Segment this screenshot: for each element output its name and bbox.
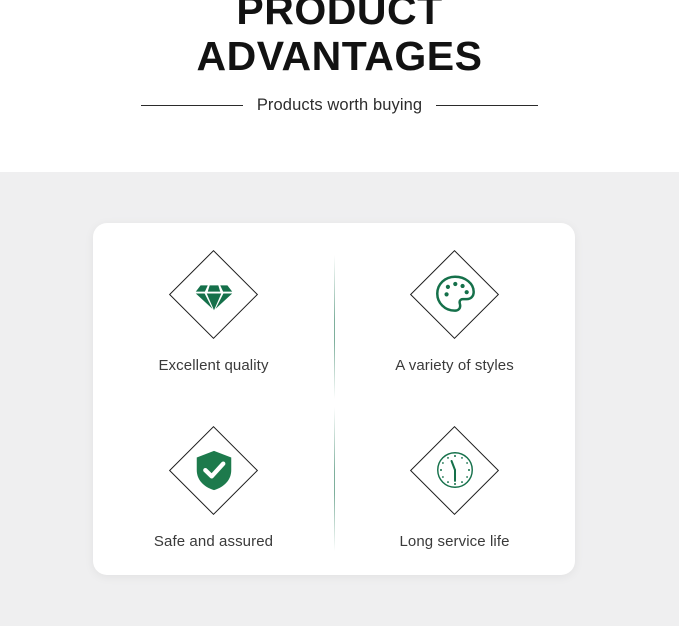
page-title: PRODUCT ADVANTAGES — [0, 0, 679, 79]
feature-label: Excellent quality — [158, 357, 268, 374]
page-header: PRODUCT ADVANTAGES Products worth buying — [0, 0, 679, 172]
feature-item-safe-and-assured[interactable]: Safe and assured — [93, 399, 334, 575]
paint-palette-icon — [432, 271, 478, 317]
diamond-gem-icon — [191, 271, 237, 317]
features-card: Excellent quality A variety of styles — [93, 223, 575, 575]
feature-label: Safe and assured — [154, 533, 273, 550]
subtitle-row: Products worth buying — [0, 96, 679, 115]
icon-frame — [409, 248, 501, 340]
clock-icon — [432, 447, 478, 493]
page-subtitle: Products worth buying — [257, 96, 422, 115]
shield-check-icon — [191, 447, 237, 493]
icon-frame — [168, 424, 260, 516]
icon-frame — [168, 248, 260, 340]
feature-label: Long service life — [399, 533, 509, 550]
page-title-line-2: ADVANTAGES — [0, 33, 679, 79]
feature-item-excellent-quality[interactable]: Excellent quality — [93, 223, 334, 399]
feature-item-variety-of-styles[interactable]: A variety of styles — [334, 223, 575, 399]
icon-frame — [409, 424, 501, 516]
subtitle-rule-right — [436, 105, 538, 106]
page-title-line-1: PRODUCT — [0, 0, 679, 33]
feature-item-long-service-life[interactable]: Long service life — [334, 399, 575, 575]
feature-label: A variety of styles — [395, 357, 514, 374]
features-grid: Excellent quality A variety of styles — [93, 223, 575, 575]
subtitle-rule-left — [141, 105, 243, 106]
